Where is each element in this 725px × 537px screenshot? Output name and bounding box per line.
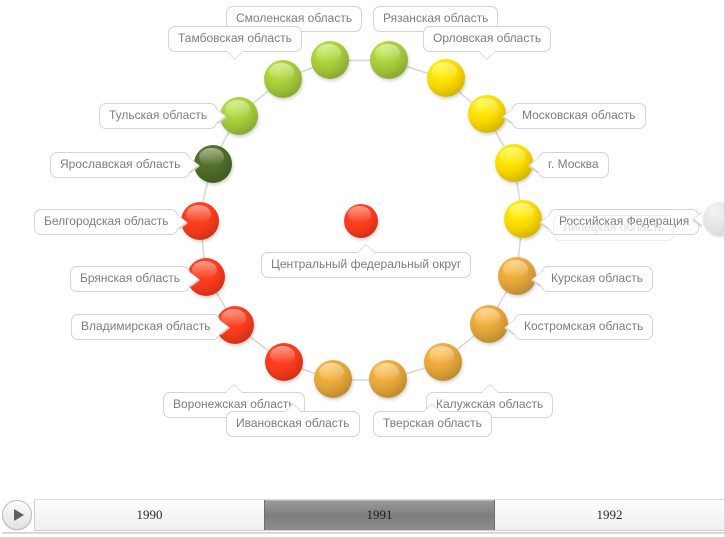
node-kostromskaya[interactable] (470, 305, 508, 343)
node-label-bryanskaya[interactable]: Брянская область (70, 266, 190, 292)
node-g-moskva[interactable] (495, 144, 533, 182)
timeline-tick-1992[interactable]: 1992 (495, 500, 724, 530)
node-label-ivanovskaya[interactable]: Ивановская область (226, 411, 360, 437)
timeline-tick-label: 1991 (367, 507, 393, 523)
node-moskovskaya[interactable] (468, 95, 506, 133)
node-tambovskaya[interactable] (264, 60, 302, 98)
node-label-moskovskaya[interactable]: Московская область (512, 103, 646, 129)
node-fill (470, 305, 508, 343)
node-label-orlovskaya[interactable]: Орловская область (423, 26, 551, 52)
ring-canvas[interactable]: Смоленская областьРязанская областьТамбо… (0, 0, 725, 480)
node-label-lipetskaya[interactable]: Липецкая область (553, 215, 674, 241)
node-fill (264, 60, 302, 98)
node-label-text: г. Москва (548, 157, 599, 171)
node-label-text: Калужская область (436, 397, 543, 411)
label-pointer-icon (506, 320, 515, 334)
node-fill (311, 41, 349, 79)
label-pointer-icon (504, 109, 513, 123)
node-fill (498, 257, 536, 295)
node-fill (344, 204, 378, 238)
label-pointer-icon (533, 272, 542, 286)
node-label-text: Тульская область (109, 108, 207, 122)
label-pointer-icon (226, 385, 242, 393)
node-fill (369, 360, 407, 398)
node-fill (370, 41, 408, 79)
node-label-text: Воронежская область (173, 397, 295, 411)
node-label-tverskaya[interactable]: Тверская область (373, 411, 492, 437)
node-label-text: Костромская область (524, 319, 643, 333)
timeline-tick-1991[interactable]: 1991 (264, 500, 495, 530)
node-label-yaroslavskaya[interactable]: Ярославская область (50, 152, 190, 178)
timeline-bar: 199019911992 (0, 480, 725, 537)
node-label-text: Владимирская область (81, 319, 210, 333)
node-fill (468, 95, 506, 133)
label-pointer-icon (482, 385, 498, 393)
node-label-text: Брянская область (80, 271, 180, 285)
label-pointer-icon (216, 109, 225, 123)
node-label-text: Тверская область (383, 416, 482, 430)
node-fill (504, 200, 542, 238)
label-pointer-icon (358, 245, 374, 253)
node-fill (314, 360, 352, 398)
play-icon (14, 509, 24, 521)
node-voronezhskaya[interactable] (265, 343, 303, 381)
node-label-text: Рязанская область (383, 11, 488, 25)
node-fill (181, 202, 219, 240)
node-fill (265, 343, 303, 381)
node-label-vladimirskaya[interactable]: Владимирская область (71, 314, 220, 340)
node-label-text: Московская область (522, 108, 636, 122)
node-smolenskaya[interactable] (311, 41, 349, 79)
timeline-baseline (2, 532, 725, 534)
node-kurskaya[interactable] (498, 257, 536, 295)
node-label-text: Центральный федеральный округ (271, 257, 461, 271)
node-label-kostromskaya[interactable]: Костромская область (514, 314, 653, 340)
node-tverskaya[interactable] (369, 360, 407, 398)
node-label-text: Смоленская область (236, 11, 352, 25)
node-kaluzhskaya[interactable] (424, 343, 462, 381)
node-label-g-moskva[interactable]: г. Москва (538, 152, 609, 178)
label-pointer-icon (227, 51, 243, 59)
play-button[interactable] (2, 500, 32, 530)
label-pointer-icon (285, 404, 301, 412)
node-label-text: Ивановская область (236, 416, 350, 430)
edge-node-pointer-icon (694, 212, 703, 226)
node-fill (220, 97, 258, 135)
label-pointer-icon (424, 404, 440, 412)
node-ryazanskaya[interactable] (370, 41, 408, 79)
node-orlovskaya[interactable] (427, 59, 465, 97)
timeline-tick-1990[interactable]: 1990 (35, 500, 264, 530)
label-pointer-icon (541, 215, 550, 229)
node-label-kurskaya[interactable]: Курская область (541, 266, 653, 292)
node-label-text: Липецкая область (563, 220, 664, 234)
node-label-text: Курская область (551, 271, 643, 285)
timeline-tick-label: 1992 (597, 507, 623, 523)
node-label-text: Ярославская область (60, 157, 180, 171)
node-label-text: Тамбовская область (178, 31, 292, 45)
node-tulskaya[interactable] (220, 97, 258, 135)
node-fill (424, 343, 462, 381)
node-label-belgorodskaya[interactable]: Белгородская область (34, 209, 178, 235)
node-center[interactable] (344, 204, 378, 238)
node-label-center[interactable]: Центральный федеральный округ (261, 252, 471, 278)
motion-chart-app: Смоленская областьРязанская областьТамбо… (0, 0, 725, 537)
node-rossiyskaya[interactable] (504, 200, 542, 238)
node-fill (427, 59, 465, 97)
node-label-text: Белгородская область (44, 214, 168, 228)
node-fill (495, 144, 533, 182)
node-yaroslavskaya[interactable] (194, 145, 232, 183)
label-pointer-icon (479, 51, 495, 59)
label-pointer-icon (530, 158, 539, 172)
node-label-tulskaya[interactable]: Тульская область (99, 103, 217, 129)
timeline-tick-label: 1990 (137, 507, 163, 523)
node-ivanovskaya[interactable] (314, 360, 352, 398)
node-label-text: Орловская область (433, 31, 541, 45)
node-label-tambovskaya[interactable]: Тамбовская область (168, 26, 302, 52)
node-belgorodskaya[interactable] (181, 202, 219, 240)
label-pointer-icon (219, 320, 228, 334)
node-fill (194, 145, 232, 183)
label-pointer-icon (189, 158, 198, 172)
timeline-track[interactable]: 199019911992 (34, 499, 725, 531)
label-pointer-icon (189, 272, 198, 286)
label-pointer-icon (177, 215, 186, 229)
